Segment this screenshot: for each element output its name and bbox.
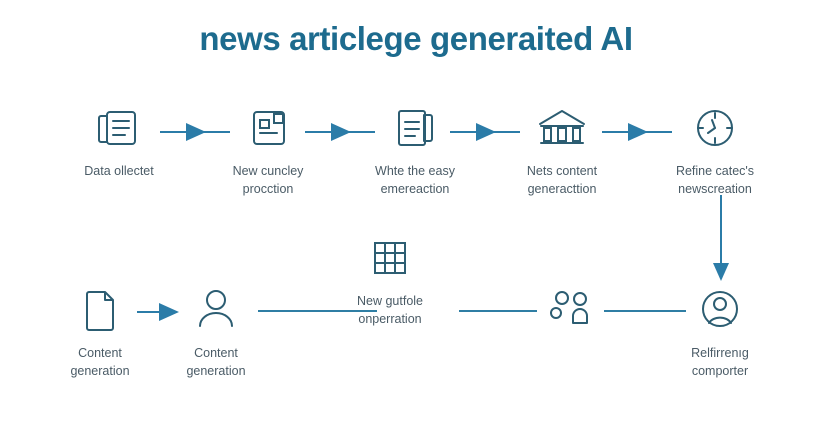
clock-circle-icon [650, 100, 780, 156]
page-title: news articlege generaited AI [0, 20, 832, 58]
grid-icon [325, 230, 455, 286]
node-nets-content[interactable]: Nets content generacttion [497, 100, 627, 198]
connector-arrow-vertical [708, 195, 734, 285]
node-new-gutfole[interactable]: New gutfole onperration [325, 230, 455, 328]
node-people[interactable] [505, 282, 635, 344]
node-content-gen-2[interactable]: Content generation [151, 282, 281, 380]
node-label: New cuncley procction [203, 162, 333, 198]
node-label: Refine catec's newscreation [650, 162, 780, 198]
node-label: Nets content generacttion [497, 162, 627, 198]
person-badge-icon [655, 282, 785, 338]
node-new-cuncley[interactable]: New cuncley procction [203, 100, 333, 198]
node-label: Content generation [151, 344, 281, 380]
node-label: Whte the easy emereaction [350, 162, 480, 198]
node-relfirrenig[interactable]: Relfirrenıg comporter [655, 282, 785, 380]
node-label: Content generation [35, 344, 165, 380]
node-label: New gutfole onperration [325, 292, 455, 328]
node-write-easy[interactable]: Whte the easy emereaction [350, 100, 480, 198]
node-label: Relfirrenıg comporter [655, 344, 785, 380]
node-label: Data ollectet [54, 162, 184, 180]
node-refine-catecs[interactable]: Refine catec's newscreation [650, 100, 780, 198]
node-content-gen-1[interactable]: Content generation [35, 282, 165, 380]
diagram-canvas: news articlege generaited AI Data ollect… [0, 0, 832, 448]
